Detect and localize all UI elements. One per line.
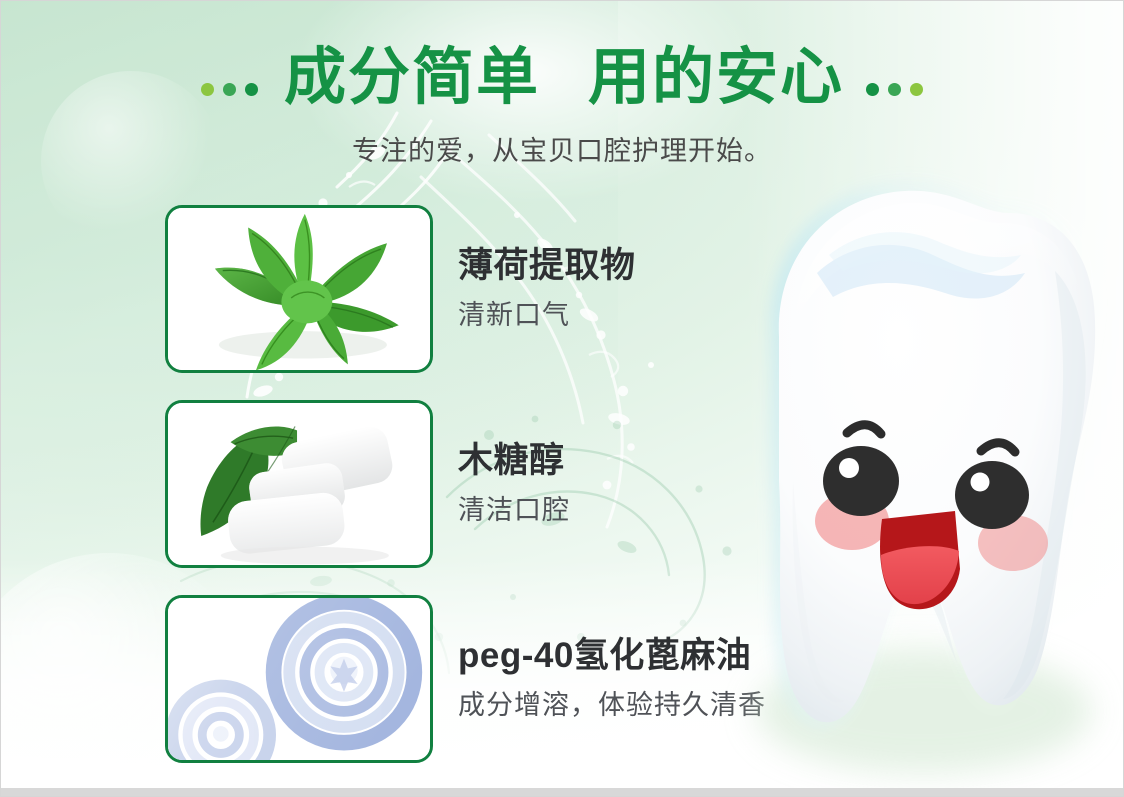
dot-right-2 bbox=[888, 83, 901, 96]
title-part-2: 用的安心 bbox=[588, 43, 844, 112]
dot-left-3 bbox=[245, 83, 258, 96]
title-part-1: 成分简单 bbox=[284, 43, 540, 112]
dot-right-1 bbox=[866, 83, 879, 96]
ingredient-text: 木糖醇 清洁口腔 bbox=[458, 441, 570, 526]
mint-leaves-image bbox=[168, 208, 430, 370]
ingredient-name: 木糖醇 bbox=[458, 441, 570, 481]
xylitol-gum-image bbox=[168, 403, 430, 565]
header: 成分简单用的安心 专注的爱，从宝贝口腔护理开始。 bbox=[1, 47, 1123, 168]
decorative-dots-right bbox=[866, 83, 923, 96]
water-ripple-image bbox=[168, 598, 430, 760]
dot-left-2 bbox=[223, 83, 236, 96]
ingredient-desc: 清新口气 bbox=[458, 293, 636, 332]
list-item: 薄荷提取物 清新口气 bbox=[165, 194, 766, 384]
title-row: 成分简单用的安心 bbox=[1, 47, 1123, 109]
dot-left-1 bbox=[201, 83, 214, 96]
list-item: 木糖醇 清洁口腔 bbox=[165, 389, 766, 579]
ingredient-thumbnail-xylitol[interactable] bbox=[165, 400, 433, 568]
ingredient-thumbnail-peg40[interactable] bbox=[165, 595, 433, 763]
bottom-strip bbox=[1, 788, 1123, 796]
ingredient-thumbnail-mint[interactable] bbox=[165, 205, 433, 373]
list-item: peg-40氢化蓖麻油 成分增溶，体验持久清香 bbox=[165, 584, 766, 774]
ingredient-text: 薄荷提取物 清新口气 bbox=[458, 246, 636, 331]
ingredient-desc: 清洁口腔 bbox=[458, 488, 570, 527]
poster-canvas: 成分简单用的安心 专注的爱，从宝贝口腔护理开始。 bbox=[0, 0, 1124, 797]
dot-right-3 bbox=[910, 83, 923, 96]
smiling-tooth-mascot bbox=[709, 151, 1124, 791]
decorative-dots-left bbox=[201, 83, 258, 96]
ingredient-list: 薄荷提取物 清新口气 bbox=[165, 194, 766, 779]
ingredient-name: 薄荷提取物 bbox=[458, 246, 636, 286]
page-title: 成分简单用的安心 bbox=[284, 47, 844, 109]
